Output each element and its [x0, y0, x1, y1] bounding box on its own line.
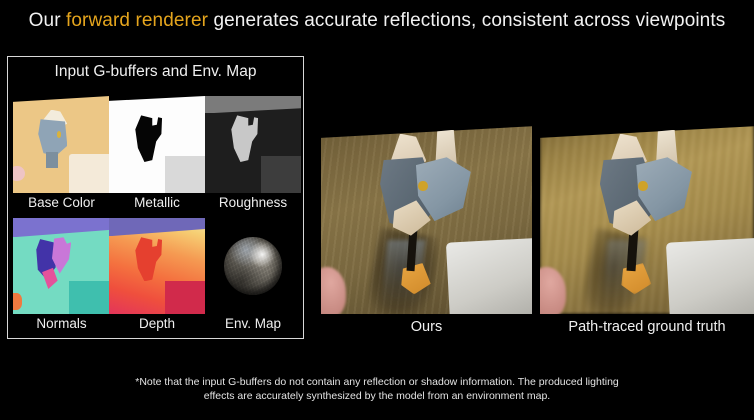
thumbnail-metallic: [109, 96, 205, 193]
thumbnail-label-depth: Depth: [109, 316, 205, 331]
thumbnail-roughness: [205, 96, 301, 193]
env-map-chrome-sphere: [224, 237, 282, 295]
footnote: *Note that the input G-buffers do not co…: [0, 375, 754, 403]
roughness-sofa: [261, 156, 301, 193]
metallic-sofa: [165, 156, 205, 193]
normals-sofa: [69, 281, 110, 314]
normals-render: [13, 218, 110, 314]
thumbnail-label-env-map: Env. Map: [205, 316, 301, 331]
base-color-leg: [46, 152, 58, 168]
footnote-line-1: *Note that the input G-buffers do not co…: [0, 375, 754, 389]
gt-couch: [666, 237, 754, 314]
thumbnail-label-base-color: Base Color: [13, 195, 110, 210]
title-prefix: Our: [29, 10, 66, 31]
thumbnail-depth: [109, 218, 205, 314]
depth-sofa: [165, 281, 205, 314]
thumbnail-normals: [13, 218, 110, 314]
render-label-ours: Ours: [321, 319, 532, 339]
metallic-render: [109, 96, 205, 193]
footnote-line-2: effects are accurately synthesized by th…: [0, 389, 754, 403]
thumbnail-base-color: [13, 96, 110, 193]
roughness-render: [205, 96, 301, 193]
thumbnail-label-normals: Normals: [13, 316, 110, 331]
title-suffix: generates accurate reflections, consiste…: [208, 10, 725, 31]
ours-eye: [418, 181, 427, 192]
thumbnail-label-roughness: Roughness: [205, 195, 301, 210]
render-ground-truth: [540, 118, 754, 314]
thumbnail-env-map: [205, 218, 301, 314]
depth-render: [109, 218, 205, 314]
ours-couch: [446, 237, 532, 314]
normals-hand: [13, 293, 22, 310]
render-label-ground-truth: Path-traced ground truth: [540, 319, 754, 339]
base-color-sofa: [69, 154, 110, 193]
thumbnail-label-metallic: Metallic: [109, 195, 205, 210]
title-accent: forward renderer: [66, 10, 208, 31]
base-color-render: [13, 96, 110, 193]
render-ours: [321, 118, 532, 314]
page-title: Our forward renderer generates accurate …: [0, 10, 754, 32]
gbuffer-panel: Input G-buffers and Env. Map Base Color …: [7, 56, 304, 339]
gbuffer-panel-title: Input G-buffers and Env. Map: [8, 63, 303, 81]
